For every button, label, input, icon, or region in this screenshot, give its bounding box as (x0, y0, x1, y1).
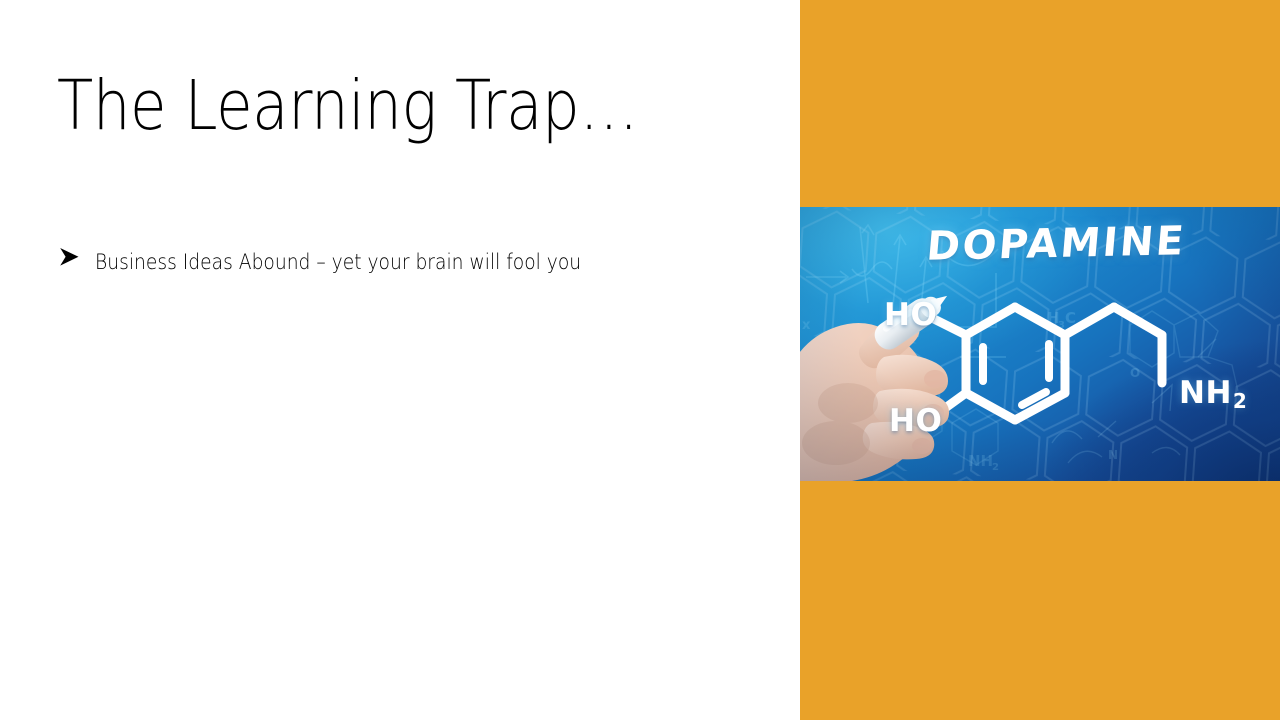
slide-canvas: The Learning Trap… Business Ideas Abound… (0, 0, 1280, 720)
list-item-label: Business Ideas Abound – yet your brain w… (95, 248, 684, 276)
page-title: The Learning Trap… (57, 72, 659, 141)
slide-content-area: The Learning Trap… Business Ideas Abound… (0, 0, 800, 720)
dopamine-heading: DOPAMINE (925, 218, 1188, 269)
dopamine-image[interactable]: H 3 C NH 2 R N O x (800, 207, 1280, 481)
amine-label: NH2 (1179, 375, 1246, 411)
bullet-list: Business Ideas Abound – yet your brain w… (57, 247, 757, 276)
amine-label-text: NH (1179, 375, 1232, 411)
amine-subscript: 2 (1233, 389, 1247, 413)
arrowhead-bullet-icon (57, 246, 95, 268)
hydroxyl-top-label: HO (884, 297, 937, 333)
hydroxyl-bottom-label: HO (889, 403, 942, 439)
list-item[interactable]: Business Ideas Abound – yet your brain w… (57, 247, 757, 276)
